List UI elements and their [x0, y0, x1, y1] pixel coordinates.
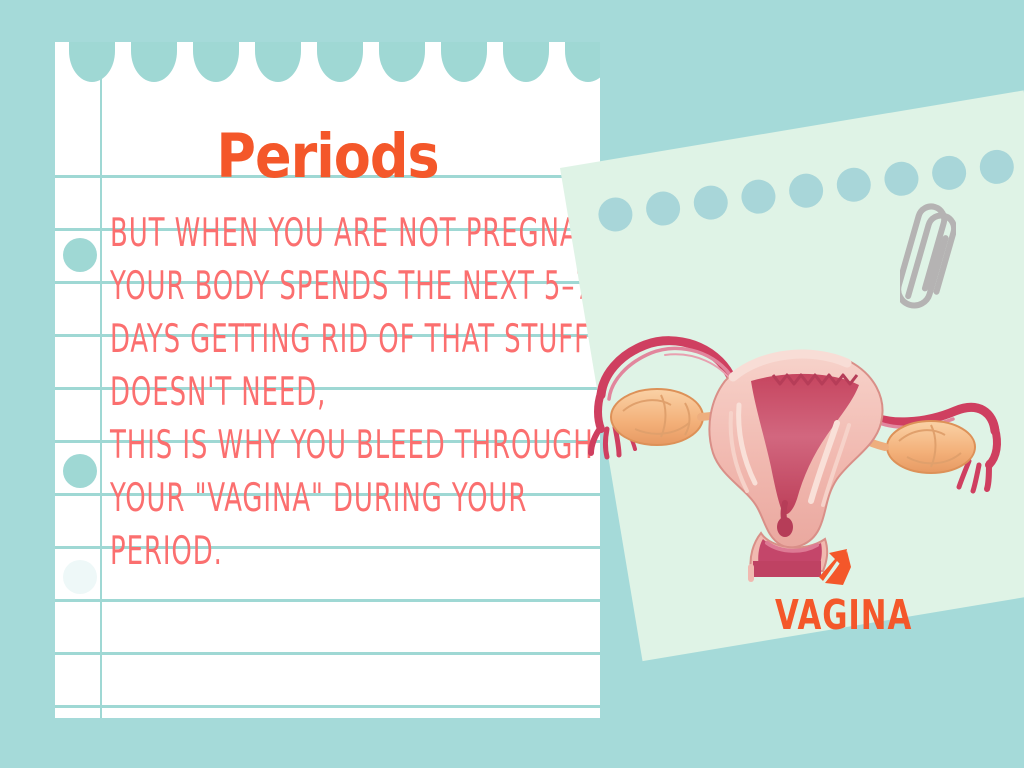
page-title: Periods — [55, 127, 600, 187]
card-dot — [644, 189, 683, 228]
uterus-body — [709, 351, 882, 547]
card-dot — [691, 183, 730, 222]
scallop-notch — [193, 42, 239, 82]
scallop-notch — [441, 42, 487, 82]
body-line: DAYS GETTING RID OF THAT STUFF IT — [110, 317, 624, 362]
scallop-notch — [255, 42, 301, 82]
card-dot — [882, 159, 921, 198]
scallop-notch — [379, 42, 425, 82]
punch-dot — [63, 238, 97, 272]
punch-dot — [63, 454, 97, 488]
scallop-notch — [503, 42, 549, 82]
body-line: PERIOD. — [110, 529, 223, 574]
scallop-notch — [69, 42, 115, 82]
paperclip-icon — [900, 196, 956, 316]
notebook-page: Periods BUT WHEN YOU ARE NOT PREGNANTYOU… — [55, 42, 600, 718]
body-line: YOUR "VAGINA" DURING YOUR — [110, 476, 527, 521]
card-dot — [930, 153, 969, 192]
ruled-line — [55, 705, 600, 708]
body-line: THIS IS WHY YOU BLEED THROUGH — [110, 423, 594, 468]
card-dot — [596, 195, 635, 234]
scallop-notch — [131, 42, 177, 82]
punch-dot — [63, 560, 97, 594]
body-line: YOUR BODY SPENDS THE NEXT 5–7 — [110, 264, 593, 309]
body-line: DOESN'T NEED, — [110, 370, 326, 415]
ruled-line — [55, 599, 600, 602]
card-dot — [739, 177, 778, 216]
body-line: BUT WHEN YOU ARE NOT PREGNANT — [110, 211, 616, 256]
uterus-diagram — [575, 295, 1015, 595]
ruled-line — [55, 652, 600, 655]
notebook-torn-edge — [55, 42, 600, 84]
vagina-label: VAGINA — [775, 592, 912, 639]
card-dot — [787, 171, 826, 210]
scallop-notch — [565, 42, 600, 82]
card-dot — [834, 165, 873, 204]
card-dot — [977, 147, 1016, 186]
scallop-notch — [317, 42, 363, 82]
card-punch-dots — [560, 90, 1024, 168]
